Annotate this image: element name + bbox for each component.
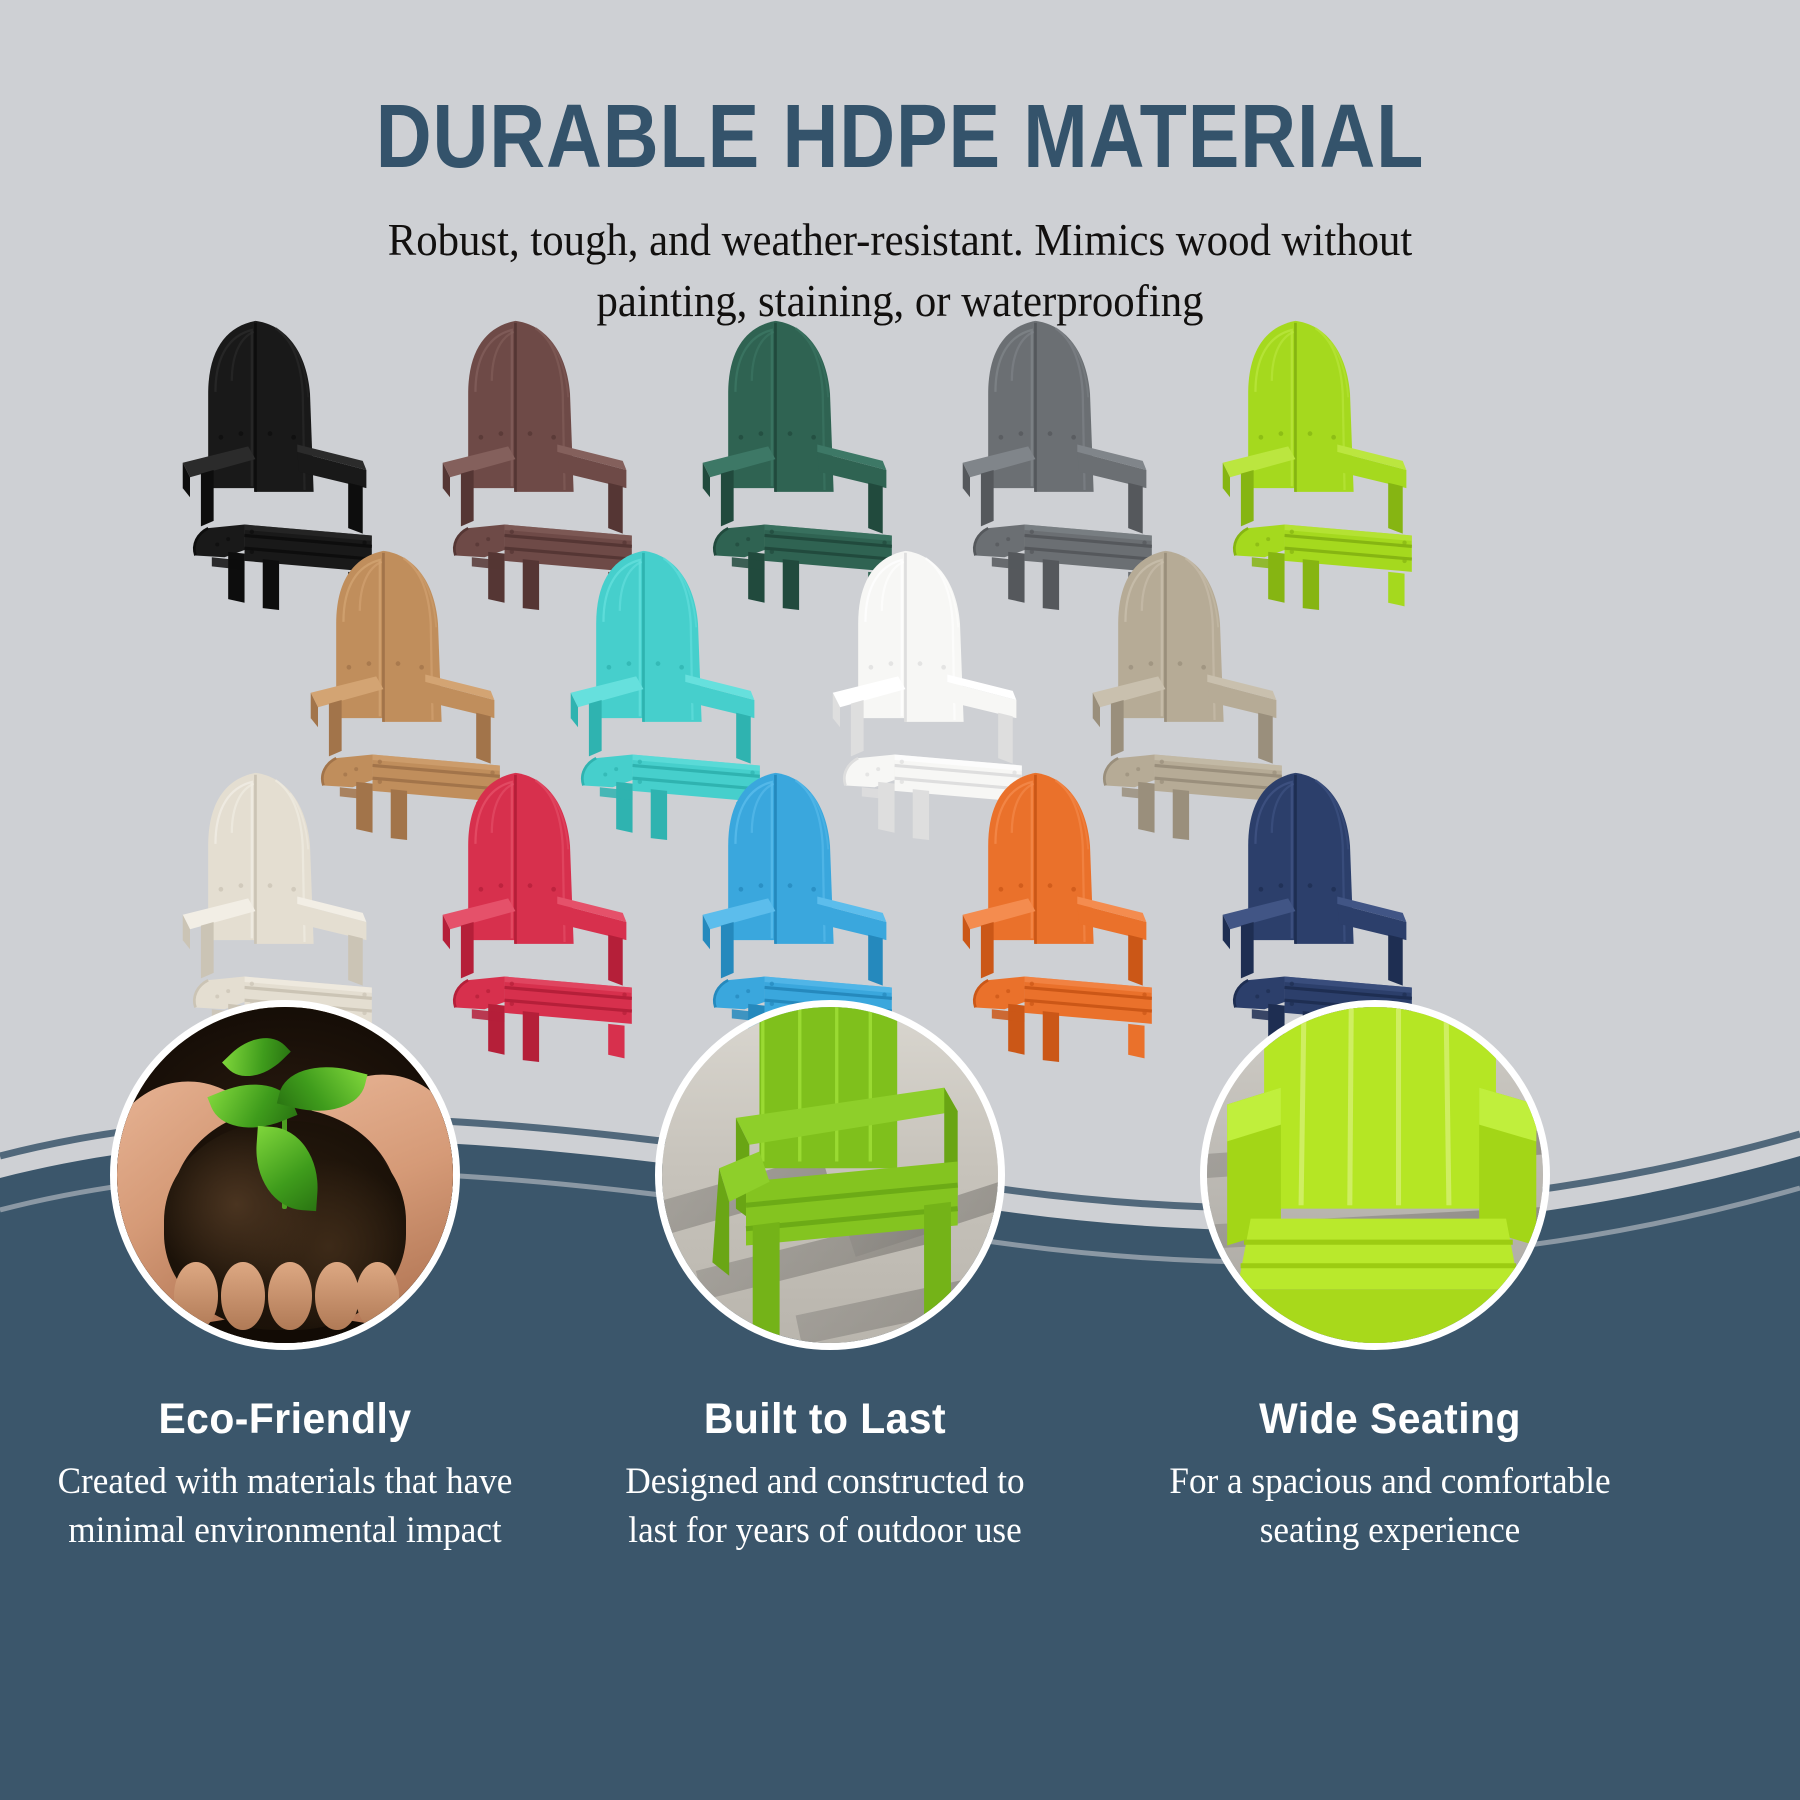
feature-title: Built to Last	[564, 1395, 1087, 1444]
feature-title: Eco-Friendly	[24, 1395, 547, 1444]
green-chair-on-patio-photo	[662, 1007, 998, 1343]
green-chair-seat-closeup-photo	[1207, 1007, 1543, 1343]
feature-body-line-2: seating experience	[1115, 1507, 1666, 1556]
feature-title: Wide Seating	[1115, 1395, 1666, 1444]
hands-with-sprout-photo	[117, 1007, 453, 1343]
feature-body: Created with materials that have minimal…	[24, 1458, 547, 1556]
feature-body-line-1: Designed and constructed to	[625, 1461, 1024, 1502]
feature-caption-eco-friendly: Eco-Friendly Created with materials that…	[10, 1395, 560, 1556]
feature-body-line-2: minimal environmental impact	[24, 1507, 547, 1556]
feature-body-line-1: Created with materials that have	[58, 1461, 513, 1502]
feature-caption-built-to-last: Built to Last Designed and constructed t…	[550, 1395, 1100, 1556]
header: DURABLE HDPE MATERIAL Robust, tough, and…	[0, 0, 1800, 331]
feature-image-eco-friendly	[110, 1000, 460, 1350]
feature-body-line-2: last for years of outdoor use	[564, 1507, 1087, 1556]
feature-image-built-to-last	[655, 1000, 1005, 1350]
page-title: DURABLE HDPE MATERIAL	[126, 0, 1674, 182]
feature-caption-wide-seating: Wide Seating For a spacious and comforta…	[1100, 1395, 1680, 1556]
feature-body: For a spacious and comfortable seating e…	[1115, 1458, 1666, 1556]
infographic-canvas: DURABLE HDPE MATERIAL Robust, tough, and…	[0, 0, 1800, 1800]
feature-body-line-1: For a spacious and comfortable	[1169, 1461, 1610, 1502]
feature-body: Designed and constructed to last for yea…	[564, 1458, 1087, 1556]
subtitle-line-1: Robust, tough, and weather-resistant. Mi…	[388, 214, 1413, 265]
feature-image-wide-seating	[1200, 1000, 1550, 1350]
